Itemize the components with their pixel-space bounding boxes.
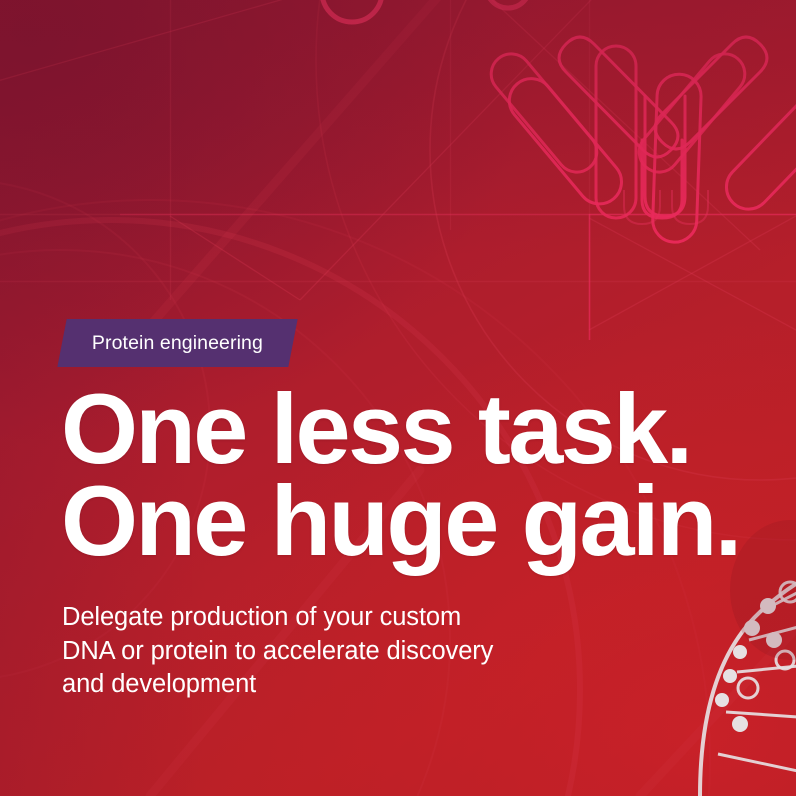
subheadline-line-3: and development: [62, 668, 493, 702]
banner-content: Protein engineering One less task. One h…: [0, 0, 796, 796]
subheadline: Delegate production of your custom DNA o…: [62, 601, 493, 702]
headline-line-2: One huge gain.: [61, 475, 740, 567]
headline-line-1: One less task.: [61, 383, 740, 475]
subheadline-line-1: Delegate production of your custom: [62, 601, 493, 635]
promo-banner: Protein engineering One less task. One h…: [0, 0, 796, 796]
category-tag[interactable]: Protein engineering: [57, 319, 297, 367]
page-title: One less task. One huge gain.: [61, 383, 740, 567]
category-tag-label: Protein engineering: [92, 332, 263, 355]
subheadline-line-2: DNA or protein to accelerate discovery: [62, 635, 493, 669]
